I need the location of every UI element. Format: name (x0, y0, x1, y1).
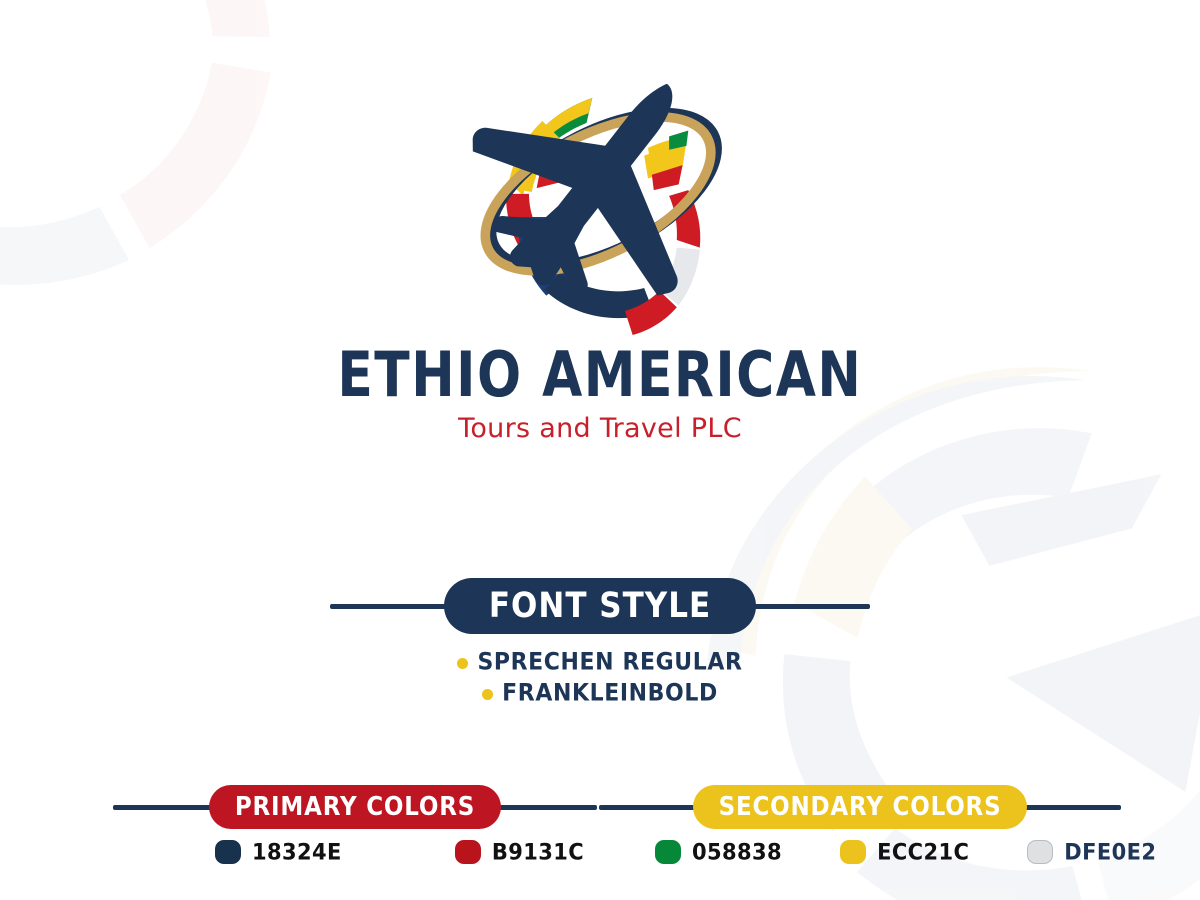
primary-colors-swatch-row: 18324E B9131C (215, 840, 584, 864)
globe-airplane-logo (445, 48, 755, 336)
secondary-colors-section-header: SECONDARY COLORS (640, 785, 1080, 829)
brand-name: ETHIO AMERICAN (337, 344, 862, 407)
font-name-label: FRANKLEINBOLD (502, 682, 718, 706)
color-chip (1027, 840, 1053, 864)
font-style-pill: FONT STYLE (444, 578, 756, 634)
color-chip (215, 840, 241, 864)
font-list: SPRECHEN REGULAR FRANKLEINBOLD (0, 652, 1200, 705)
color-hex-label: 058838 (692, 841, 782, 863)
bullet-icon (482, 689, 493, 700)
color-swatch: 18324E (215, 840, 342, 864)
brand-tagline: Tours and Travel PLC (458, 415, 742, 442)
primary-colors-pill: PRIMARY COLORS (209, 785, 501, 829)
logo-lockup: ETHIO AMERICAN Tours and Travel PLC (0, 48, 1200, 442)
secondary-colors-heading: SECONDARY COLORS (719, 794, 1002, 820)
font-style-section-header: FONT STYLE (0, 578, 1200, 634)
secondary-colors-pill: SECONDARY COLORS (693, 785, 1028, 829)
color-hex-label: 18324E (252, 841, 342, 863)
color-chip (455, 840, 481, 864)
color-hex-label: DFE0E2 (1064, 841, 1156, 863)
divider-line-left (113, 805, 213, 810)
brand-style-guide-page: ETHIO AMERICAN Tours and Travel PLC FONT… (0, 0, 1200, 900)
divider-line-left (599, 805, 697, 810)
color-hex-label: B9131C (492, 841, 584, 863)
color-swatch: 058838 (655, 840, 782, 864)
secondary-colors-swatch-row: 058838 ECC21C DFE0E2 (655, 840, 1156, 864)
primary-colors-section-header: PRIMARY COLORS (155, 785, 555, 829)
divider-line-right (1023, 805, 1121, 810)
color-hex-label: ECC21C (877, 841, 969, 863)
font-name-label: SPRECHEN REGULAR (477, 651, 742, 675)
divider-line-left (330, 604, 448, 609)
color-swatch: DFE0E2 (1027, 840, 1156, 864)
primary-colors-heading: PRIMARY COLORS (235, 794, 475, 820)
divider-line-right (497, 805, 597, 810)
font-style-heading: FONT STYLE (489, 589, 711, 624)
font-list-item: SPRECHEN REGULAR (457, 652, 742, 674)
bullet-icon (457, 658, 468, 669)
color-swatch: B9131C (455, 840, 584, 864)
color-chip (840, 840, 866, 864)
font-list-item: FRANKLEINBOLD (482, 683, 718, 705)
color-swatch: ECC21C (840, 840, 969, 864)
color-chip (655, 840, 681, 864)
divider-line-right (752, 604, 870, 609)
